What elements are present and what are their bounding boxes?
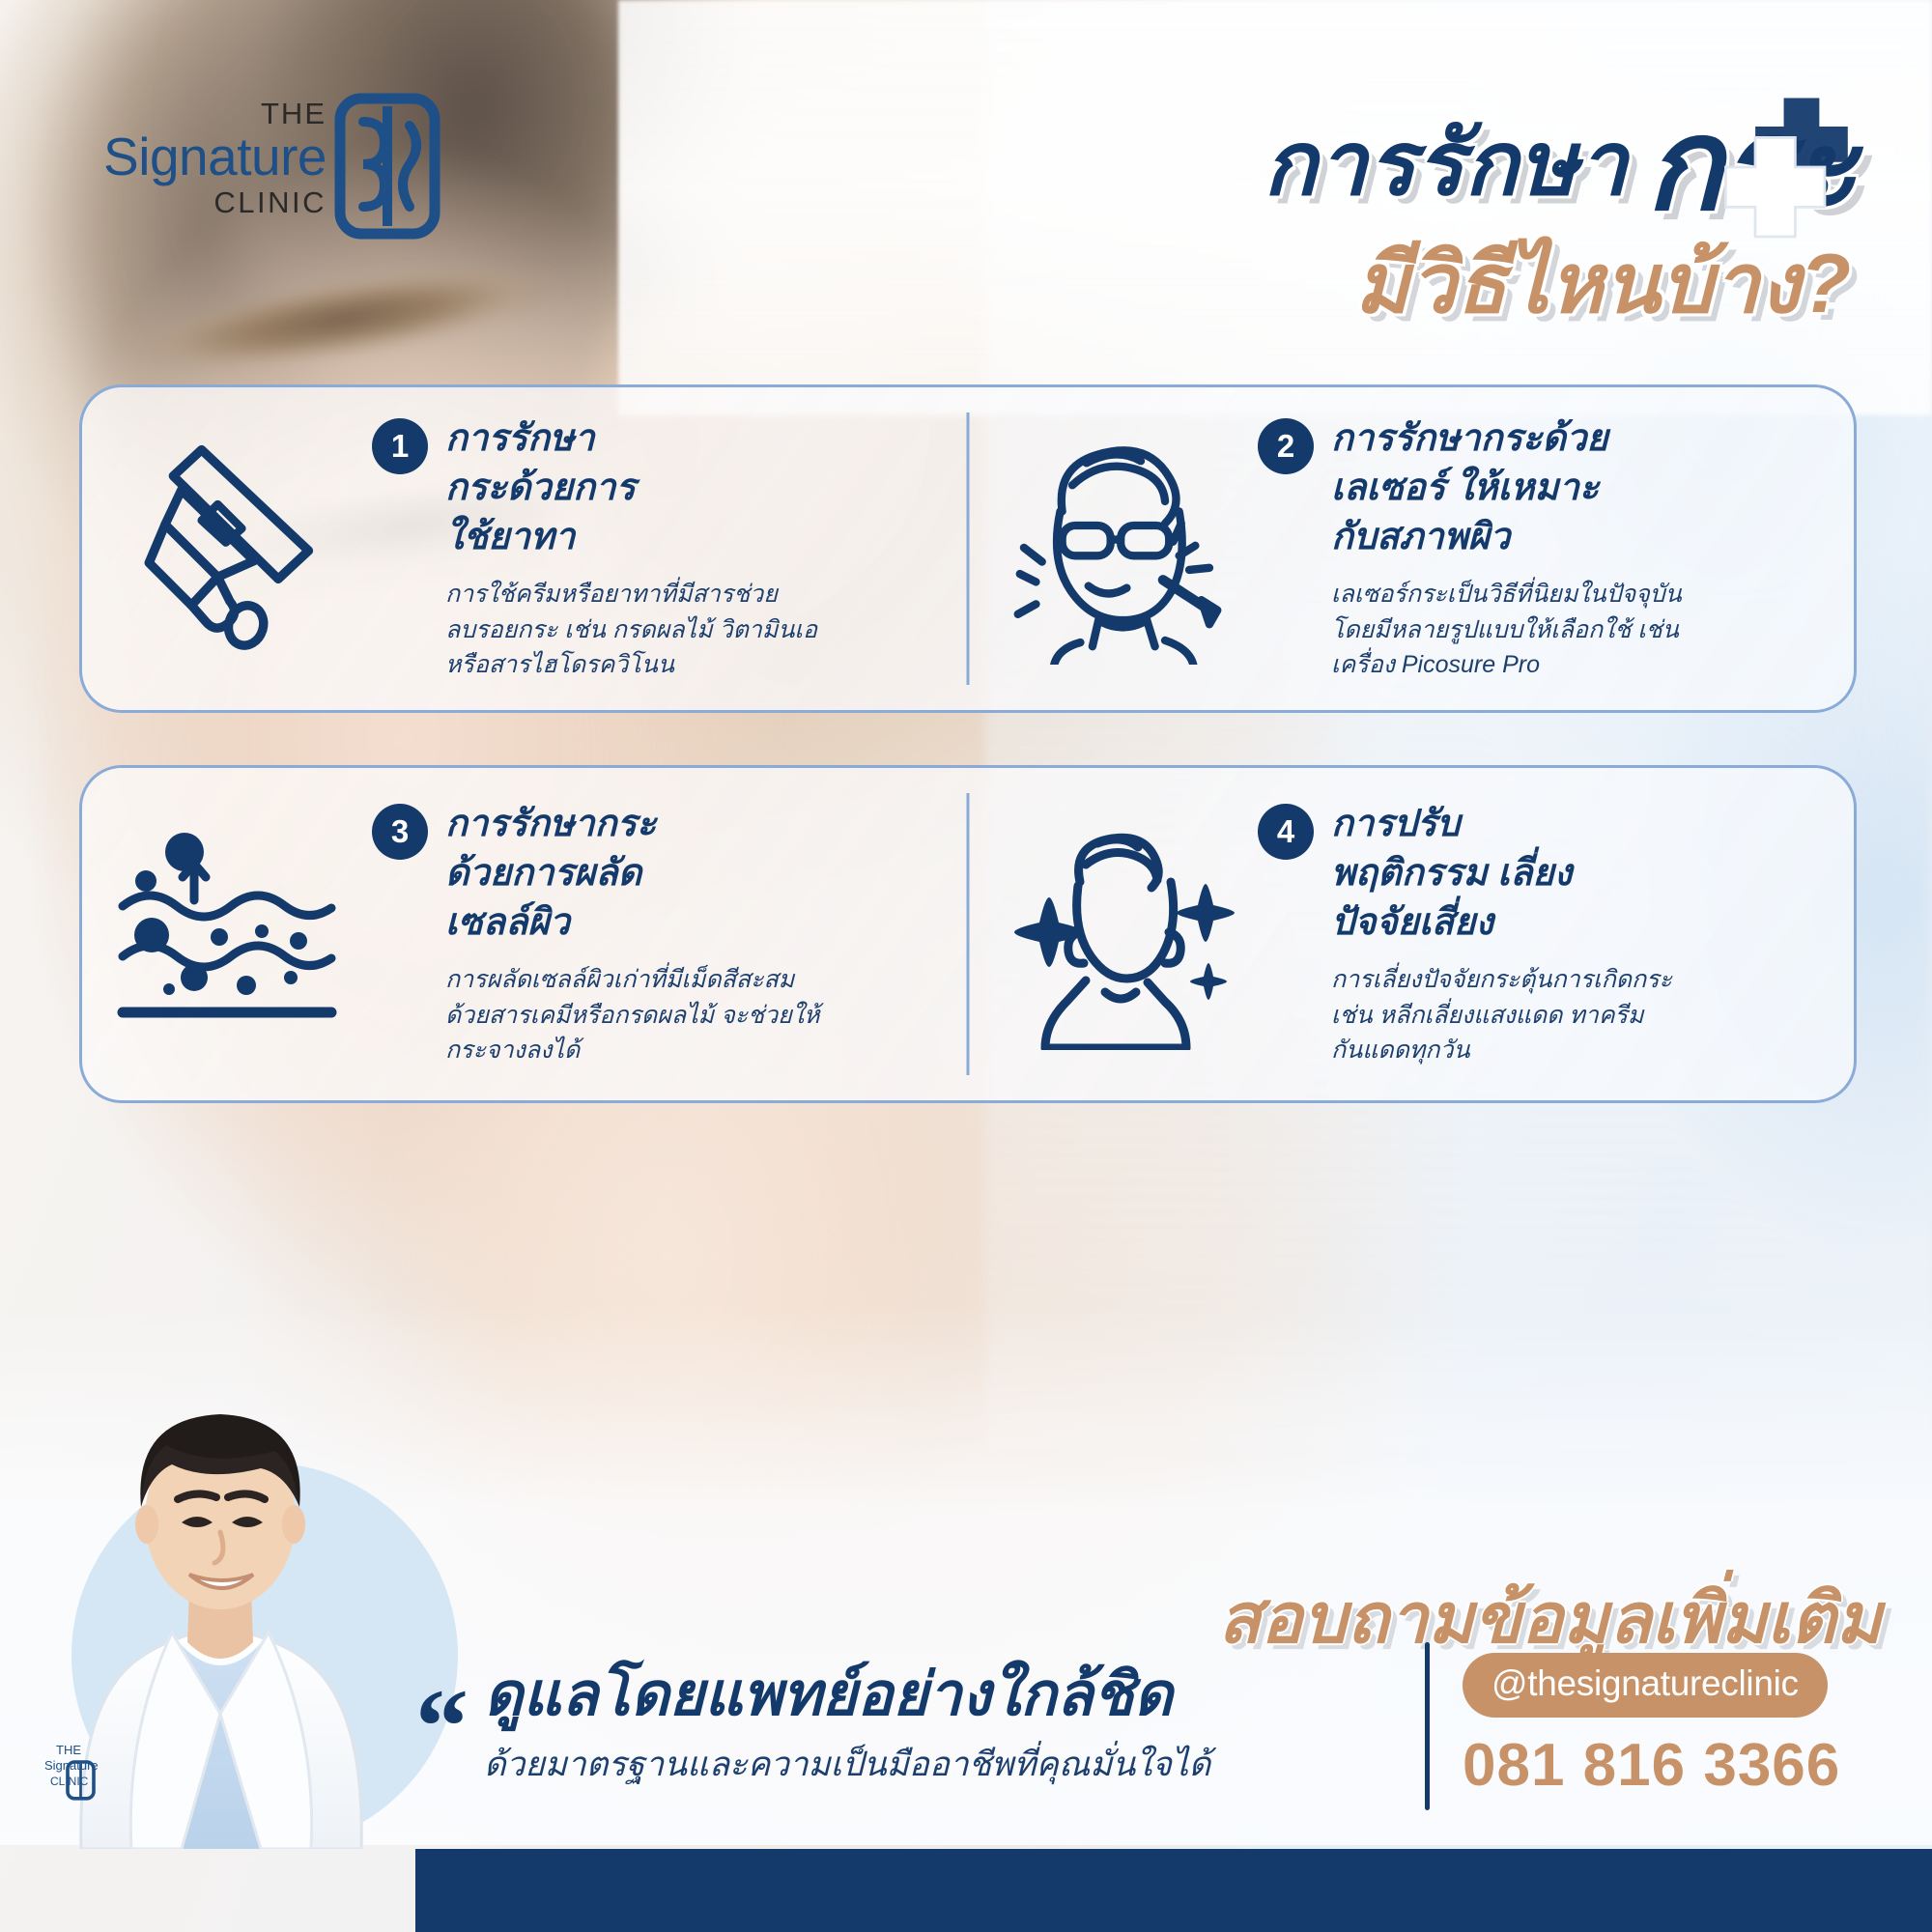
treatment-item-2-heading: 2 การรักษากระด้วย เลเซอร์ ให้เหมาะ กับสภ… <box>1258 414 1829 561</box>
body-line: การผลัดเซลล์ผิวเก่าที่มีเม็ดสีสะสม <box>445 962 943 998</box>
treatment-item-3-text: 3 การรักษากระ ด้วยการผลัด เซลล์ผิว การผล… <box>372 800 958 1067</box>
treatment-item-4-text: 4 การปรับ พฤติกรรม เลี่ยง ปัจจัยเสี่ยง ก… <box>1258 800 1844 1067</box>
title-line: พฤติกรรม เลี่ยง <box>1331 849 1572 898</box>
body-line: ด้วยสารเคมีหรือกรดผลไม้ จะช่วยให้ <box>445 998 943 1034</box>
treatment-item-1[interactable]: 1 การรักษา กระด้วยการ ใช้ยาทา การใช้ครีม… <box>82 387 968 710</box>
brand-logo-signature: Signature <box>103 130 327 184</box>
brand-logo-clinic: CLINIC <box>103 187 327 217</box>
step-badge-3: 3 <box>372 804 428 860</box>
treatment-item-1-heading: 1 การรักษา กระด้วยการ ใช้ยาทา <box>372 414 943 561</box>
doctor-portrait-photo: THE Signature CLINIC <box>27 1308 481 1849</box>
quote-line-1: ดูแลโดยแพทย์อย่างใกล้ชิด <box>484 1662 1402 1728</box>
body-line: กระจางลงได้ <box>445 1033 943 1068</box>
phone-number[interactable]: 081 816 3366 <box>1463 1731 1878 1800</box>
title-line: การปรับ <box>1331 800 1572 849</box>
treatment-item-3-body: การผลัดเซลล์ผิวเก่าที่มีเม็ดสีสะสม ด้วยส… <box>372 962 943 1068</box>
headline-line-2: มีวิธีไหนบ้าง? <box>755 239 1857 330</box>
treatment-item-1-body: การใช้ครีมหรือยาทาที่มีสารช่วย ลบรอยกระ … <box>372 577 943 683</box>
treatment-item-4-body: การเลี่ยงปัจจัยกระตุ้นการเกิดกระ เช่น หล… <box>1258 962 1829 1068</box>
quote-block: “ ดูแลโดยแพทย์อย่างใกล้ชิด ด้วยมาตรฐานแล… <box>415 1634 1878 1818</box>
bottom-accent-bar <box>415 1849 1932 1932</box>
title-line: เลเซอร์ ให้เหมาะ <box>1331 464 1608 513</box>
headline-emphasis: กระ <box>1645 104 1857 225</box>
svg-text:Signature: Signature <box>44 1758 99 1773</box>
body-line: เครื่อง Picosure Pro <box>1331 647 1829 683</box>
treatment-item-2-title: การรักษากระด้วย เลเซอร์ ให้เหมาะ กับสภาพ… <box>1331 414 1608 561</box>
step-badge-2: 2 <box>1258 418 1314 474</box>
title-line: ปัจจัยเสี่ยง <box>1331 898 1572 948</box>
quote-mark-icon: “ <box>415 1694 469 1758</box>
body-line: โดยมีหลายรูปแบบให้เลือกใช้ เช่น <box>1331 612 1829 648</box>
treatment-item-2-body: เลเซอร์กระเป็นวิธีที่นิยมในปัจจุบัน โดยม… <box>1258 577 1829 683</box>
svg-text:THE: THE <box>56 1743 81 1757</box>
body-line: เช่น หลีกเลี่ยงแสงแดด ทาครีม <box>1331 998 1829 1034</box>
svg-text:CLINIC: CLINIC <box>50 1775 89 1788</box>
treatment-item-4-heading: 4 การปรับ พฤติกรรม เลี่ยง ปัจจัยเสี่ยง <box>1258 800 1829 947</box>
glowing-skin-woman-icon <box>978 818 1258 1050</box>
brand-logo: THE Signature CLINIC <box>93 87 440 241</box>
vertical-divider <box>1425 1642 1430 1810</box>
headline-block: การรักษา กระ มีวิธีไหนบ้าง? <box>755 104 1857 330</box>
body-line: หรือสารไฮโดรควิโนน <box>445 647 943 683</box>
treatment-card-row-top: 1 การรักษา กระด้วยการ ใช้ยาทา การใช้ครีม… <box>79 384 1857 713</box>
skin-layers-exfoliation-icon <box>92 823 372 1045</box>
title-line: ใช้ยาทา <box>445 513 636 562</box>
brand-logo-the: THE <box>103 99 327 128</box>
contact-block: @thesignatureclinic 081 816 3366 <box>1463 1653 1878 1800</box>
title-line: การรักษากระด้วย <box>1331 414 1608 464</box>
treatment-item-1-text: 1 การรักษา กระด้วยการ ใช้ยาทา การใช้ครีม… <box>372 414 958 682</box>
headline-prefix: การรักษา <box>1264 118 1629 212</box>
treatment-item-3-heading: 3 การรักษากระ ด้วยการผลัด เซลล์ผิว <box>372 800 943 947</box>
signature-clinic-monogram-icon <box>334 93 440 240</box>
treatment-item-4[interactable]: 4 การปรับ พฤติกรรม เลี่ยง ปัจจัยเสี่ยง ก… <box>968 768 1854 1100</box>
title-line: กับสภาพผิว <box>1331 513 1608 562</box>
treatment-item-1-title: การรักษา กระด้วยการ ใช้ยาทา <box>445 414 636 561</box>
social-handle-badge[interactable]: @thesignatureclinic <box>1463 1653 1828 1718</box>
quote-line-2: ด้วยมาตรฐานและความเป็นมืออาชีพที่คุณมั่น… <box>484 1738 1402 1791</box>
title-line: เซลล์ผิว <box>445 898 656 948</box>
title-line: การรักษากระ <box>445 800 656 849</box>
step-badge-4: 4 <box>1258 804 1314 860</box>
treatment-item-2-text: 2 การรักษากระด้วย เลเซอร์ ให้เหมาะ กับสภ… <box>1258 414 1844 682</box>
treatment-item-3-title: การรักษากระ ด้วยการผลัด เซลล์ผิว <box>445 800 656 947</box>
treatment-item-4-title: การปรับ พฤติกรรม เลี่ยง ปัจจัยเสี่ยง <box>1331 800 1572 947</box>
headline-line-1: การรักษา กระ <box>755 104 1857 225</box>
body-line: การใช้ครีมหรือยาทาที่มีสารช่วย <box>445 577 943 612</box>
title-line: การรักษา <box>445 414 636 464</box>
treatment-card-row-bottom: 3 การรักษากระ ด้วยการผลัด เซลล์ผิว การผล… <box>79 765 1857 1103</box>
body-line: ลบรอยกระ เช่น กรดผลไม้ วิตามินเอ <box>445 612 943 648</box>
cream-tube-icon <box>92 438 372 660</box>
body-line: กันแดดทุกวัน <box>1331 1033 1829 1068</box>
body-line: เลเซอร์กระเป็นวิธีที่นิยมในปัจจุบัน <box>1331 577 1829 612</box>
title-line: ด้วยการผลัด <box>445 849 656 898</box>
laser-treatment-face-icon <box>978 433 1258 665</box>
step-badge-1: 1 <box>372 418 428 474</box>
treatment-item-3[interactable]: 3 การรักษากระ ด้วยการผลัด เซลล์ผิว การผล… <box>82 768 968 1100</box>
body-line: การเลี่ยงปัจจัยกระตุ้นการเกิดกระ <box>1331 962 1829 998</box>
treatment-item-2[interactable]: 2 การรักษากระด้วย เลเซอร์ ให้เหมาะ กับสภ… <box>968 387 1854 710</box>
title-line: กระด้วยการ <box>445 464 636 513</box>
quote-text: ดูแลโดยแพทย์อย่างใกล้ชิด ด้วยมาตรฐานและค… <box>484 1662 1402 1791</box>
brand-logo-text: THE Signature CLINIC <box>103 99 327 217</box>
